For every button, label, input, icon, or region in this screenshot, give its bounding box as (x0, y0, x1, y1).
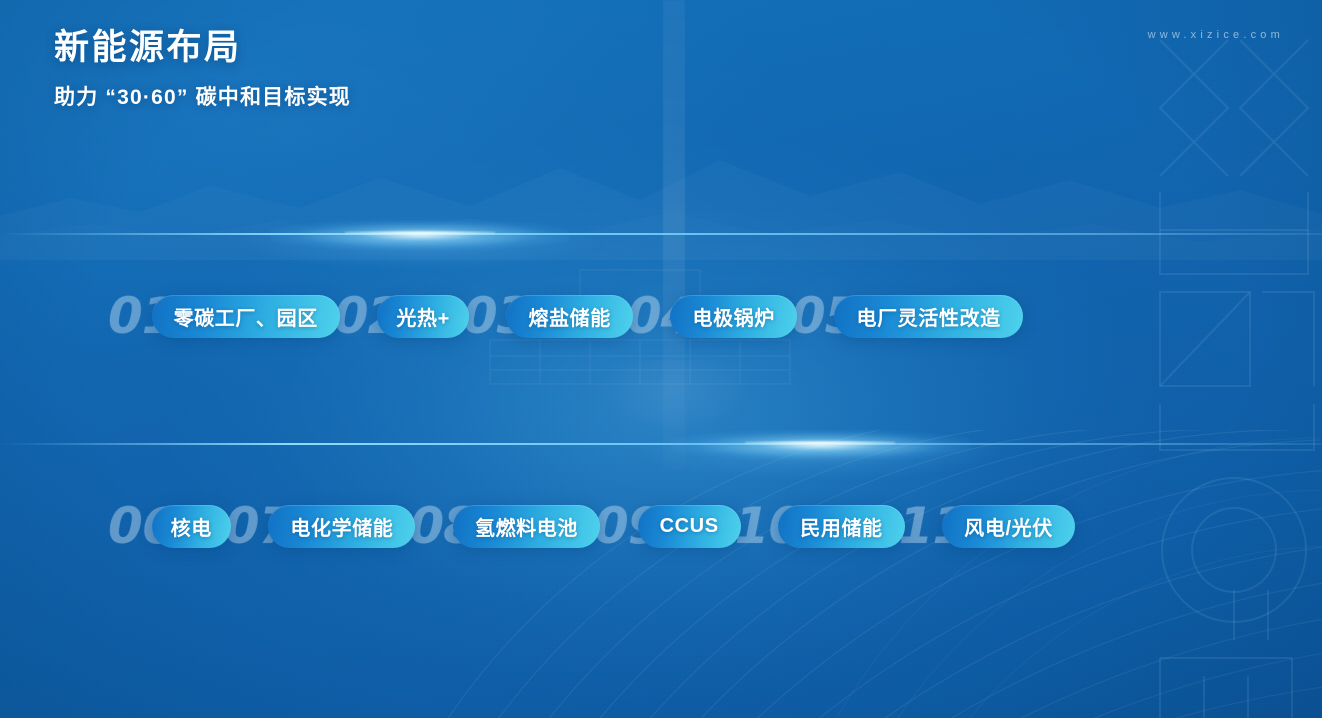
divider-glow-core (745, 441, 895, 445)
item-label: 民用储能 (800, 512, 882, 541)
item-label: 熔盐储能 (528, 302, 610, 331)
item-label: CCUS (660, 515, 719, 538)
header: 新能源布局 助力 “30·60” 碳中和目标实现 (54, 26, 351, 111)
item-label: 零碳工厂、园区 (174, 302, 318, 331)
category-item-02[interactable]: 02光热+ (334, 281, 469, 351)
item-label: 光热+ (396, 302, 449, 331)
category-item-01[interactable]: 01零碳工厂、园区 (108, 281, 340, 351)
tower-base-glow (600, 360, 750, 430)
category-item-06[interactable]: 06核电 (108, 491, 231, 561)
item-pill[interactable]: 电厂灵活性改造 (834, 295, 1022, 338)
item-pill[interactable]: 核电 (152, 505, 231, 548)
page-subtitle: 助力 “30·60” 碳中和目标实现 (54, 81, 351, 111)
site-url-label: www.xizice.com (1148, 29, 1284, 41)
item-pill[interactable]: 零碳工厂、园区 (152, 295, 340, 338)
item-label: 核电 (171, 512, 212, 541)
category-item-11[interactable]: 11风电/光伏 (899, 491, 1075, 561)
category-item-07[interactable]: 07电化学储能 (225, 491, 416, 561)
item-pill[interactable]: 风电/光伏 (942, 505, 1075, 548)
divider-line-2 (0, 443, 1322, 445)
item-pill[interactable]: 电化学储能 (268, 505, 415, 548)
solar-tower (663, 0, 685, 470)
category-item-10[interactable]: 10民用储能 (735, 491, 905, 561)
category-item-09[interactable]: 09CCUS (594, 491, 741, 561)
divider-line-1 (0, 233, 1322, 235)
item-label: 电极锅炉 (692, 302, 774, 331)
brand-letter-watermark (1142, 30, 1322, 718)
plant-structure (430, 150, 850, 410)
pill-row-1: 01零碳工厂、园区02光热+03熔盐储能04电极锅炉05电厂灵活性改造 (108, 281, 1017, 351)
item-pill[interactable]: 熔盐储能 (506, 295, 632, 338)
category-item-08[interactable]: 08氢燃料电池 (409, 491, 600, 561)
page-title: 新能源布局 (54, 26, 351, 70)
divider-glow-core (345, 231, 495, 235)
item-label: 氢燃料电池 (475, 512, 578, 541)
pill-row-2: 06核电07电化学储能08氢燃料电池09CCUS10民用储能11风电/光伏 (108, 491, 1069, 561)
mountain-silhouette (0, 120, 1322, 260)
divider-glow-hotspot (670, 430, 970, 460)
item-label: 风电/光伏 (964, 512, 1053, 541)
divider-glow-hotspot (270, 220, 570, 250)
item-pill[interactable]: CCUS (638, 505, 741, 548)
category-item-04[interactable]: 04电极锅炉 (627, 281, 797, 351)
item-pill[interactable]: 光热+ (377, 295, 468, 338)
slide-canvas: 新能源布局 助力 “30·60” 碳中和目标实现 www.xizice.com … (0, 0, 1322, 718)
item-label: 电化学储能 (290, 512, 393, 541)
category-item-03[interactable]: 03熔盐储能 (463, 281, 633, 351)
item-pill[interactable]: 氢燃料电池 (453, 505, 600, 548)
item-label: 电厂灵活性改造 (856, 302, 1000, 331)
item-pill[interactable]: 民用储能 (778, 505, 904, 548)
category-item-05[interactable]: 05电厂灵活性改造 (791, 281, 1023, 351)
item-pill[interactable]: 电极锅炉 (670, 295, 796, 338)
